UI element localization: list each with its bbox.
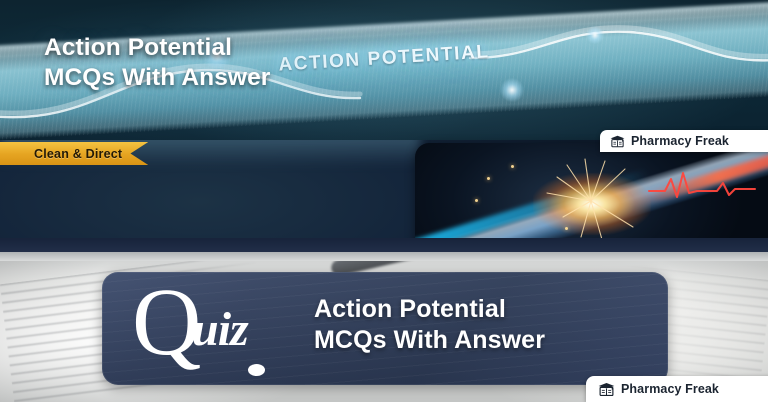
graduation-cap-icon [598,382,615,397]
clean-direct-badge: Clean & Direct [0,142,148,165]
quiz-title-line1: Action Potential [314,295,506,323]
banner-title: ACTION POTENTIAL [278,41,490,76]
quiz-title: Action Potential MCQs With Answer [314,294,545,356]
spark-image-card [415,143,768,253]
middle-title-line1: Action Potential [44,34,232,61]
spark-particle [511,165,514,168]
quiz-logo: Q uiz [132,280,304,384]
quiz-logo-q: Q [132,274,201,370]
quiz-card: Q uiz Action Potential MCQs With Answer [102,272,668,385]
brand-name-bottom: Pharmacy Freak [621,382,719,396]
spark-particle [487,177,490,180]
brand-name-top: Pharmacy Freak [631,134,729,148]
spark-particle [565,227,568,230]
middle-title-line2: MCQs With Answer [44,63,270,93]
book-top-edge [0,252,768,261]
ecg-waveform-icon [647,169,757,203]
impulse-glow-far-right [586,26,604,44]
impulse-glow-right [500,78,524,102]
middle-title: Action Potential MCQs With Answer [44,33,270,93]
book-upper-shadow [0,238,768,253]
quiz-logo-uiz: uiz [192,306,248,354]
quiz-logo-dot [248,364,265,376]
quiz-title-line2: MCQs With Answer [314,325,545,356]
brand-logo-top[interactable]: Pharmacy Freak [600,130,768,152]
featured-image-canvas: ACTION POTENTIAL Clean & Direct Action P… [0,0,768,402]
spark-particle [475,199,478,202]
brand-logo-bottom[interactable]: Pharmacy Freak [586,376,768,402]
graduation-cap-icon [610,135,625,148]
